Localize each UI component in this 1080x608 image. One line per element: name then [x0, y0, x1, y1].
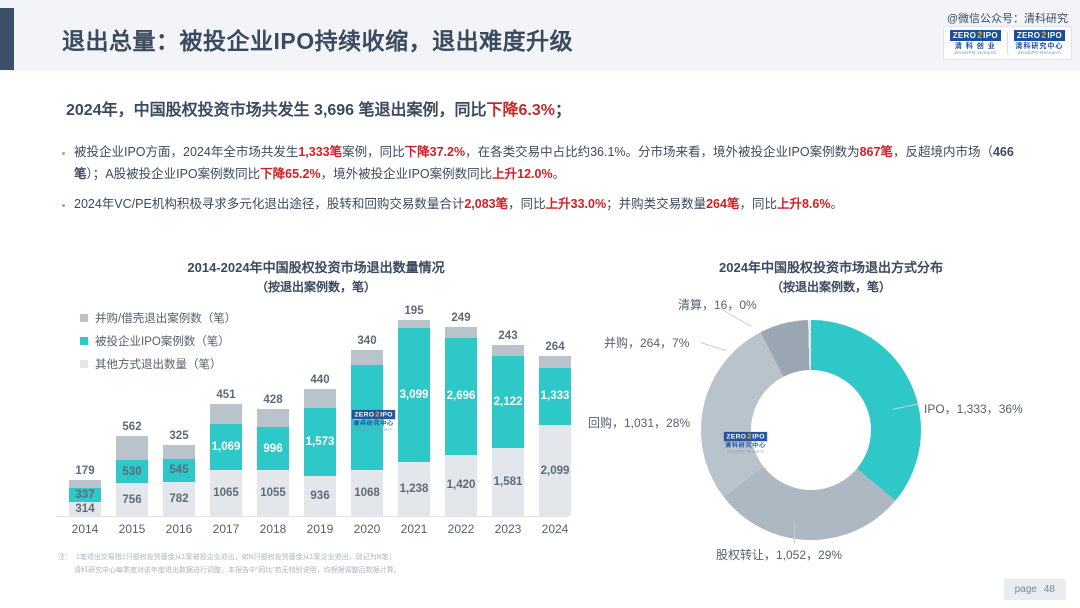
- list-item: 被投企业IPO方面，2024年全市场共发生1,333笔案例，同比下降37.2%，…: [62, 142, 1022, 186]
- bar-segment-ipo: 996: [257, 427, 289, 470]
- x-axis-tick-label: 2017: [205, 522, 247, 536]
- bar-segment-merger: 325: [163, 445, 195, 459]
- bar-segment-ipo: 1,573: [304, 408, 336, 476]
- wm2-ipo: IPO: [752, 433, 764, 440]
- bar-value-label: 2,696: [447, 390, 476, 402]
- wm-zero: ZERO: [354, 411, 374, 418]
- bar-chart-plot: 1793373145625307563255457824511,06910654…: [64, 316, 576, 516]
- wm2-zero: ZERO: [726, 433, 746, 440]
- bar-segment-merger: 243: [492, 345, 524, 356]
- bar-segment-other: 1068: [351, 470, 383, 516]
- bar-segment-merger: 264: [539, 356, 571, 367]
- page-word: page: [1015, 584, 1037, 595]
- bar-segment-merger: 195: [398, 320, 430, 328]
- bar-segment-other: 782: [163, 482, 195, 516]
- donut-label-ipo: IPO，1,333，36%: [924, 400, 1023, 417]
- bar-value-label: 340: [357, 335, 376, 347]
- bar-column: 3402,4341068: [346, 350, 388, 516]
- x-axis-tick-label: 2024: [534, 522, 576, 536]
- wm2-en: Zero2IPO Research: [727, 450, 764, 454]
- bar-segment-other: 1,420: [445, 455, 477, 516]
- bar-value-label: 756: [122, 494, 141, 506]
- bar-value-label: 2,099: [541, 465, 570, 477]
- bar-segment-ipo: 2,122: [492, 356, 524, 448]
- watermark-logo-bar: ZERO 2 IPO 清科研究中心 Zero2IPO Research: [352, 410, 395, 432]
- footnote: 注： 1笔退出交易指1只股权投资基金从1家被投企业退出，如N只股权投资基金从1家…: [58, 552, 618, 578]
- bar-value-label: 314: [75, 503, 94, 515]
- lead-highlight: 下降6.3%: [487, 102, 555, 119]
- logo-cn-ventures: 清 科 创 业: [955, 43, 996, 50]
- logo-zero-text: ZERO: [953, 32, 976, 40]
- x-axis-tick-label: 2016: [158, 522, 200, 536]
- bullet-text-2: 2024年VC/PE机构积极寻求多元化退出途径，股转和回购交易数量合计2,083…: [74, 194, 1022, 216]
- x-axis-tick-label: 2021: [393, 522, 435, 536]
- bar-value-label: 243: [498, 330, 517, 342]
- list-item: 2024年VC/PE机构积极寻求多元化退出途径，股转和回购交易数量合计2,083…: [62, 194, 1022, 216]
- x-axis-tick-label: 2020: [346, 522, 388, 536]
- logo-ipo-text: IPO: [983, 32, 998, 40]
- bar-value-label: 1,573: [306, 436, 335, 448]
- lead-part-1: 2024年，中国股权投资市场共发生 3,696 笔退出案例，同比: [66, 102, 487, 119]
- bar-value-label: 337: [75, 489, 94, 501]
- bar-segment-other: 936: [304, 476, 336, 516]
- bar-segment-merger: 428: [257, 409, 289, 428]
- bar-column: 325545782: [158, 445, 200, 516]
- donut-ring: [701, 320, 921, 540]
- donut-label-liquidation: 清算，16，0%: [678, 296, 757, 313]
- bar-column: 2492,6961,420: [440, 327, 482, 516]
- bar-segment-merger: 451: [210, 404, 242, 424]
- wm2-two: 2: [747, 433, 751, 441]
- donut-label-merger: 并购，264，7%: [604, 334, 689, 351]
- logo-divider: [1007, 32, 1008, 54]
- footnote-label: 注：: [58, 552, 72, 565]
- bar-segment-other: 1055: [257, 470, 289, 516]
- donut-chart: 2024年中国股权投资市场退出方式分布 （按退出案例数，笔） 清算，16，0% …: [596, 258, 1066, 558]
- x-axis-tick-label: 2023: [487, 522, 529, 536]
- wm-two: 2: [375, 411, 379, 419]
- bar-value-label: 195: [404, 305, 423, 317]
- bar-value-label: 996: [263, 443, 282, 455]
- bar-value-label: 545: [169, 464, 188, 476]
- donut-plot: [701, 320, 921, 540]
- bar-value-label: 782: [169, 493, 188, 505]
- bar-column: 562530756: [111, 436, 153, 516]
- bar-value-label: 325: [169, 430, 188, 442]
- bar-chart-subtitle: （按退出案例数，笔）: [56, 278, 576, 296]
- logo-mark-2: ZERO 2 IPO: [1014, 30, 1065, 41]
- wechat-account-label: @微信公众号：清科研究: [947, 10, 1068, 26]
- footnote-line-1: 1笔退出交易指1只股权投资基金从1家被投企业退出，如N只股权投资基金从1家企业退…: [58, 552, 618, 565]
- bar-segment-ipo: 3,099: [398, 328, 430, 462]
- donut-chart-title: 2024年中国股权投资市场退出方式分布 （按退出案例数，笔）: [596, 258, 1066, 296]
- bar-value-label: 562: [122, 421, 141, 433]
- bar-column: 2432,1221,581: [487, 345, 529, 516]
- bar-chart-axis: [56, 516, 568, 517]
- bullet-dot-icon: [62, 152, 65, 155]
- logo-mark: ZERO 2 IPO: [950, 30, 1001, 41]
- bar-chart-title: 2014-2024年中国股权投资市场退出数量情况 （按退出案例数，笔）: [56, 258, 576, 296]
- bar-segment-ipo: 530: [116, 460, 148, 483]
- bar-value-label: 2,122: [494, 396, 523, 408]
- footnote-line-2: 清科研究中心每季度对该年度退出数据进行调整，本报告中“同比”若无特别说明，均根据…: [58, 565, 618, 578]
- bar-value-label: 428: [263, 394, 282, 406]
- logo-en-ventures: Zero2IPO Ventures: [954, 51, 996, 56]
- bar-value-label: 3,099: [400, 389, 429, 401]
- bar-segment-merger: 249: [445, 327, 477, 338]
- donut-chart-subtitle: （按退出案例数，笔）: [596, 278, 1066, 296]
- bar-value-label: 1,069: [212, 441, 241, 453]
- page-number: 48: [1044, 584, 1055, 595]
- bullet-list: 被投企业IPO方面，2024年全市场共发生1,333笔案例，同比下降37.2%，…: [62, 142, 1022, 216]
- bar-value-label: 1,238: [400, 483, 429, 495]
- bar-chart: 2014-2024年中国股权投资市场退出数量情况 （按退出案例数，笔） 并购/借…: [56, 258, 576, 538]
- logo-two-text-2: 2: [1041, 31, 1046, 40]
- bar-segment-merger: 562: [116, 436, 148, 460]
- logo-ventures: ZERO 2 IPO 清 科 创 业 Zero2IPO Ventures: [950, 30, 1001, 56]
- bar-segment-ipo: 1,333: [539, 368, 571, 426]
- bar-segment-merger: 440: [304, 389, 336, 408]
- bar-segment-other: 756: [116, 483, 148, 516]
- bar-column: 4401,573936: [299, 389, 341, 517]
- bar-value-label: 530: [122, 466, 141, 478]
- page-number-badge: page 48: [1004, 579, 1066, 600]
- bar-column: 4289961055: [252, 409, 294, 516]
- page-title: 退出总量：被投企业IPO持续收缩，退出难度升级: [62, 22, 573, 56]
- lead-part-3: ；: [555, 102, 571, 119]
- bar-segment-ipo: 337: [69, 488, 101, 503]
- slide-root: 退出总量：被投企业IPO持续收缩，退出难度升级 @微信公众号：清科研究 ZERO…: [0, 0, 1080, 608]
- bar-segment-ipo: 545: [163, 459, 195, 483]
- x-axis-tick-label: 2014: [64, 522, 106, 536]
- bar-value-label: 1,333: [541, 390, 570, 402]
- bar-segment-other: 314: [69, 502, 101, 516]
- bar-value-label: 440: [310, 374, 329, 386]
- logo-research: ZERO 2 IPO 清科研究中心 Zero2IPO Research: [1014, 30, 1065, 56]
- wm-en: Zero2IPO Research: [355, 428, 392, 432]
- bullet-text-1: 被投企业IPO方面，2024年全市场共发生1,333笔案例，同比下降37.2%，…: [74, 142, 1022, 186]
- bar-value-label: 1,420: [447, 479, 476, 491]
- bar-chart-x-axis-labels: 2014201520162017201820192020202120222023…: [64, 522, 576, 536]
- bar-value-label: 1068: [354, 487, 380, 499]
- bar-segment-other: 1,581: [492, 448, 524, 516]
- logo-ipo-text-2: IPO: [1047, 32, 1062, 40]
- wm-ipo: IPO: [380, 411, 392, 418]
- bar-column: 179337314: [64, 480, 106, 516]
- lead-statement: 2024年，中国股权投资市场共发生 3,696 笔退出案例，同比下降6.3%；: [66, 96, 571, 120]
- bar-segment-merger: 340: [351, 350, 383, 365]
- bar-value-label: 264: [545, 341, 564, 353]
- bar-segment-other: 2,099: [539, 425, 571, 516]
- logo-zero-text-2: ZERO: [1017, 32, 1040, 40]
- bar-segment-merger: 179: [69, 480, 101, 488]
- x-axis-tick-label: 2019: [299, 522, 341, 536]
- bar-value-label: 451: [216, 389, 235, 401]
- x-axis-tick-label: 2018: [252, 522, 294, 536]
- logo-cn-research: 清科研究中心: [1015, 43, 1063, 50]
- bar-segment-other: 1065: [210, 470, 242, 516]
- bar-value-label: 249: [451, 312, 470, 324]
- donut-chart-title-text: 2024年中国股权投资市场退出方式分布: [719, 260, 943, 275]
- bar-column: 2641,3332,099: [534, 356, 576, 516]
- watermark-logo-donut: ZERO 2 IPO 清科研究中心 Zero2IPO Research: [724, 432, 767, 454]
- bar-value-label: 936: [310, 490, 329, 502]
- bullet-dot-icon: [62, 204, 65, 207]
- donut-leader-equity-transfer: [794, 524, 795, 544]
- bar-chart-title-text: 2014-2024年中国股权投资市场退出数量情况: [187, 260, 444, 275]
- bar-segment-ipo: 2,696: [445, 338, 477, 455]
- donut-label-equity-transfer: 股权转让，1,052，29%: [716, 546, 842, 563]
- bar-segment-ipo: 1,069: [210, 424, 242, 470]
- zero2ipo-logo: ZERO 2 IPO 清 科 创 业 Zero2IPO Ventures ZER…: [943, 26, 1072, 60]
- x-axis-tick-label: 2022: [440, 522, 482, 536]
- logo-two-text: 2: [977, 31, 982, 40]
- x-axis-tick-label: 2015: [111, 522, 153, 536]
- bar-column: 4511,0691065: [205, 404, 247, 516]
- header-accent-bar: [0, 8, 14, 70]
- bar-value-label: 179: [75, 465, 94, 477]
- bar-value-label: 1055: [260, 487, 286, 499]
- bar-segment-other: 1,238: [398, 462, 430, 516]
- donut-label-buyback: 回购，1,031，28%: [588, 414, 690, 431]
- bar-value-label: 1065: [213, 487, 239, 499]
- bar-value-label: 1,581: [494, 476, 523, 488]
- bar-column: 1953,0991,238: [393, 320, 435, 516]
- logo-en-research: Zero2IPO Research: [1018, 51, 1061, 56]
